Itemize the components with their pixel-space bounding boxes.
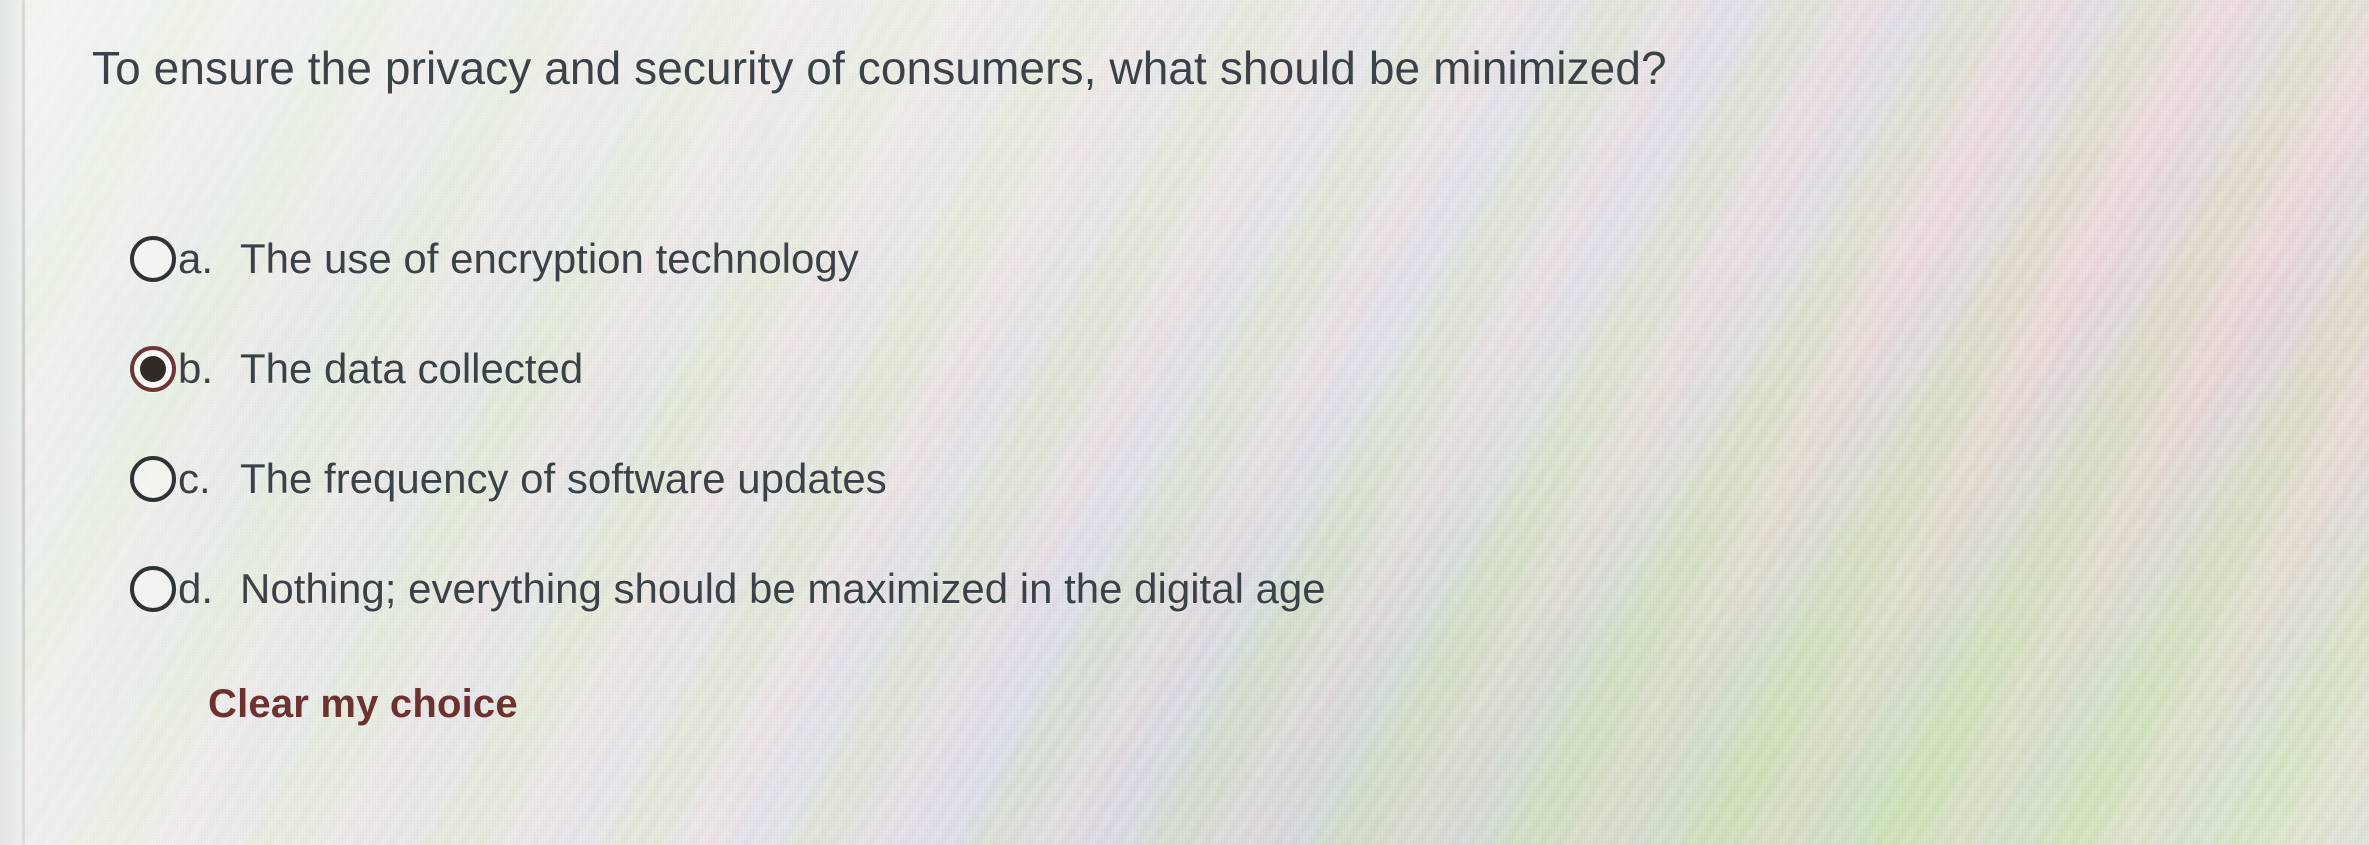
radio-button-b[interactable]	[130, 346, 176, 392]
quiz-screenshot: To ensure the privacy and security of co…	[0, 0, 2369, 845]
answer-option-a[interactable]: a. The use of encryption technology	[92, 226, 2292, 336]
answer-option-d[interactable]: d. Nothing; everything should be maximiz…	[92, 556, 2292, 666]
quiz-content: To ensure the privacy and security of co…	[0, 0, 2369, 845]
radio-button-d[interactable]	[130, 566, 176, 612]
radio-button-c[interactable]	[130, 456, 176, 502]
clear-my-choice-link[interactable]: Clear my choice	[208, 682, 518, 727]
radio-button-a[interactable]	[130, 236, 176, 282]
answer-option-c[interactable]: c. The frequency of software updates	[92, 446, 2292, 556]
answer-letter-b: b.	[178, 336, 240, 402]
question-text: To ensure the privacy and security of co…	[92, 40, 1667, 98]
answer-text-d: Nothing; everything should be maximized …	[240, 556, 1326, 622]
answer-letter-c: c.	[178, 446, 240, 512]
answer-letter-d: d.	[178, 556, 240, 622]
answer-text-a: The use of encryption technology	[240, 226, 859, 292]
answer-text-b: The data collected	[240, 336, 583, 402]
answer-option-b[interactable]: b. The data collected	[92, 336, 2292, 446]
answer-text-c: The frequency of software updates	[240, 446, 887, 512]
answer-letter-a: a.	[178, 226, 240, 292]
answer-options-list: a. The use of encryption technology b. T…	[92, 226, 2292, 666]
